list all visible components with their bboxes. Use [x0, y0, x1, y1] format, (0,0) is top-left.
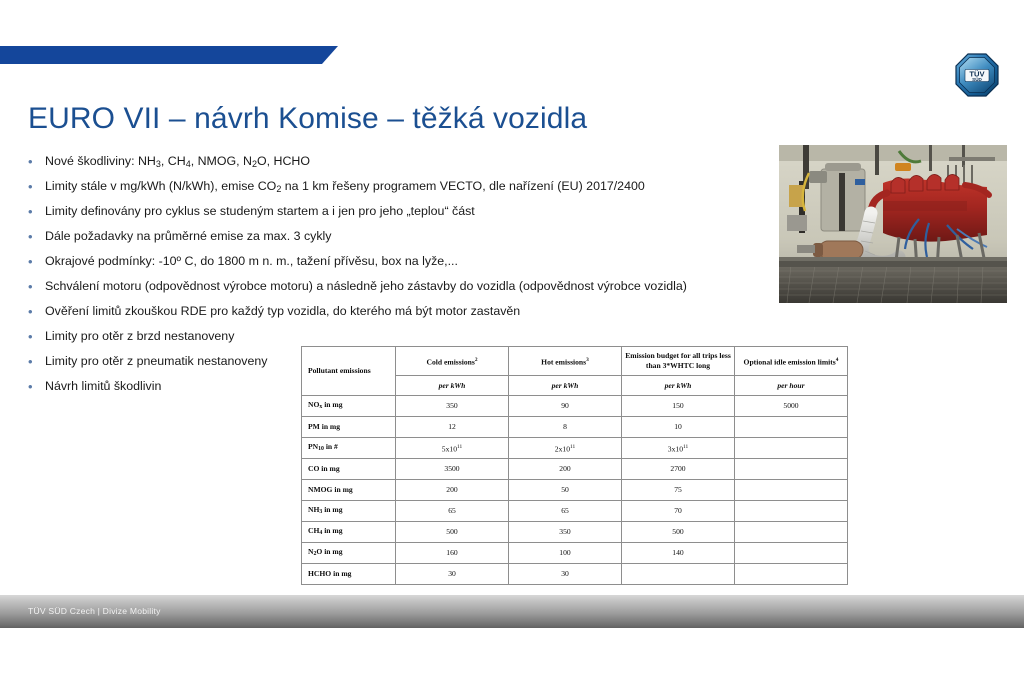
table-row: NH3 in mg 65 65 70 — [302, 501, 848, 522]
cell-idle — [735, 417, 848, 438]
row-label: NOx in mg — [302, 396, 396, 417]
cell-hot: 2x1011 — [509, 438, 622, 459]
list-item: • Okrajové podmínky: -10º C, do 1800 m n… — [28, 252, 798, 277]
cell-idle — [735, 543, 848, 564]
row-label: NH3 in mg — [302, 501, 396, 522]
list-item-label: Limity stále v mg/kWh (N/kWh), emise CO2… — [45, 177, 645, 198]
unit-budget: per kWh — [622, 376, 735, 396]
bullet-dot-icon: • — [28, 177, 45, 196]
table-row: NMOG in mg 200 50 75 — [302, 480, 848, 501]
cell-cold: 5x1011 — [396, 438, 509, 459]
list-item: • Limity definovány pro cyklus se studen… — [28, 202, 798, 227]
cell-hot: 90 — [509, 396, 622, 417]
list-item-label: Limity definovány pro cyklus se studeným… — [45, 202, 475, 220]
list-item-label: Návrh limitů škodlivin — [45, 377, 161, 395]
cell-idle — [735, 438, 848, 459]
list-item: • Ověření limitů zkouškou RDE pro každý … — [28, 302, 798, 327]
row-label: NMOG in mg — [302, 480, 396, 501]
table-row: CO in mg 3500 200 2700 — [302, 459, 848, 480]
cell-budget: 500 — [622, 522, 735, 543]
slide-footer: TÜV SÜD Czech | Divize Mobility — [0, 595, 1024, 628]
page-title: EURO VII – návrh Komise – těžká vozidla — [28, 101, 587, 137]
svg-text:SÜD: SÜD — [972, 76, 982, 82]
cell-hot: 65 — [509, 501, 622, 522]
cell-idle — [735, 522, 848, 543]
table-header-row: Pollutant emissions Cold emissions2 Hot … — [302, 347, 848, 376]
engine-test-bench-photo — [779, 145, 1007, 303]
row-label: PN10 in # — [302, 438, 396, 459]
table-row: HCHO in mg 30 30 — [302, 564, 848, 585]
cell-cold: 160 — [396, 543, 509, 564]
list-item-label: Ověření limitů zkouškou RDE pro každý ty… — [45, 302, 520, 320]
cell-cold: 12 — [396, 417, 509, 438]
unit-idle: per hour — [735, 376, 848, 396]
cell-budget: 75 — [622, 480, 735, 501]
column-header-budget: Emission budget for all trips less than … — [622, 347, 735, 376]
row-label: PM in mg — [302, 417, 396, 438]
bullet-dot-icon: • — [28, 277, 45, 296]
slide-canvas: TÜV SÜD EURO VII – návrh Komise – těžká … — [0, 0, 1024, 683]
row-label: CH4 in mg — [302, 522, 396, 543]
cell-hot: 350 — [509, 522, 622, 543]
list-item-label: Limity pro otěr z pneumatik nestanoveny — [45, 352, 267, 370]
list-item: • Schválení motoru (odpovědnost výrobce … — [28, 277, 798, 302]
cell-cold: 30 — [396, 564, 509, 585]
bullet-dot-icon: • — [28, 352, 45, 371]
cell-budget: 70 — [622, 501, 735, 522]
column-header-cold: Cold emissions2 — [396, 347, 509, 376]
cell-cold: 500 — [396, 522, 509, 543]
tuv-sud-logo: TÜV SÜD — [953, 51, 1001, 99]
row-label: N2O in mg — [302, 543, 396, 564]
title-accent-bar — [0, 46, 338, 64]
cell-idle: 5000 — [735, 396, 848, 417]
cell-budget — [622, 564, 735, 585]
table-row: CH4 in mg 500 350 500 — [302, 522, 848, 543]
cell-cold: 200 — [396, 480, 509, 501]
cell-idle — [735, 564, 848, 585]
column-header-pollutant: Pollutant emissions — [302, 347, 396, 396]
table-body: NOx in mg 350 90 150 5000 PM in mg 12 8 … — [302, 396, 848, 585]
cell-budget: 2700 — [622, 459, 735, 480]
bullet-dot-icon: • — [28, 252, 45, 271]
cell-cold: 3500 — [396, 459, 509, 480]
list-item-label: Nové škodliviny: NH3, CH4, NMOG, N2O, HC… — [45, 152, 310, 173]
list-item: • Dále požadavky na průměrné emise za ma… — [28, 227, 798, 252]
table-row: N2O in mg 160 100 140 — [302, 543, 848, 564]
emissions-limits-table: Pollutant emissions Cold emissions2 Hot … — [301, 346, 848, 585]
list-item-label: Limity pro otěr z brzd nestanoveny — [45, 327, 234, 345]
table-row: PM in mg 12 8 10 — [302, 417, 848, 438]
cell-budget: 150 — [622, 396, 735, 417]
cell-hot: 8 — [509, 417, 622, 438]
unit-cold: per kWh — [396, 376, 509, 396]
unit-hot: per kWh — [509, 376, 622, 396]
cell-hot: 100 — [509, 543, 622, 564]
bullet-dot-icon: • — [28, 327, 45, 346]
table-row: NOx in mg 350 90 150 5000 — [302, 396, 848, 417]
row-label: HCHO in mg — [302, 564, 396, 585]
cell-hot: 30 — [509, 564, 622, 585]
bullet-dot-icon: • — [28, 152, 45, 171]
cell-idle — [735, 480, 848, 501]
column-header-hot: Hot emissions3 — [509, 347, 622, 376]
bullet-dot-icon: • — [28, 202, 45, 221]
cell-hot: 200 — [509, 459, 622, 480]
list-item: • Nové škodliviny: NH3, CH4, NMOG, N2O, … — [28, 152, 798, 177]
cell-budget: 10 — [622, 417, 735, 438]
list-item: • Limity stále v mg/kWh (N/kWh), emise C… — [28, 177, 798, 202]
column-header-idle: Optional idle emission limits4 — [735, 347, 848, 376]
list-item-label: Dále požadavky na průměrné emise za max.… — [45, 227, 332, 245]
cell-budget: 140 — [622, 543, 735, 564]
table-row: PN10 in # 5x1011 2x1011 3x1011 — [302, 438, 848, 459]
list-item-label: Schválení motoru (odpovědnost výrobce mo… — [45, 277, 687, 295]
cell-hot: 50 — [509, 480, 622, 501]
cell-cold: 65 — [396, 501, 509, 522]
footer-label: TÜV SÜD Czech | Divize Mobility — [28, 605, 161, 617]
list-item-label: Okrajové podmínky: -10º C, do 1800 m n. … — [45, 252, 458, 270]
cell-budget: 3x1011 — [622, 438, 735, 459]
row-label: CO in mg — [302, 459, 396, 480]
bullet-dot-icon: • — [28, 302, 45, 321]
cell-idle — [735, 459, 848, 480]
bullet-dot-icon: • — [28, 377, 45, 396]
cell-idle — [735, 501, 848, 522]
bullet-dot-icon: • — [28, 227, 45, 246]
cell-cold: 350 — [396, 396, 509, 417]
